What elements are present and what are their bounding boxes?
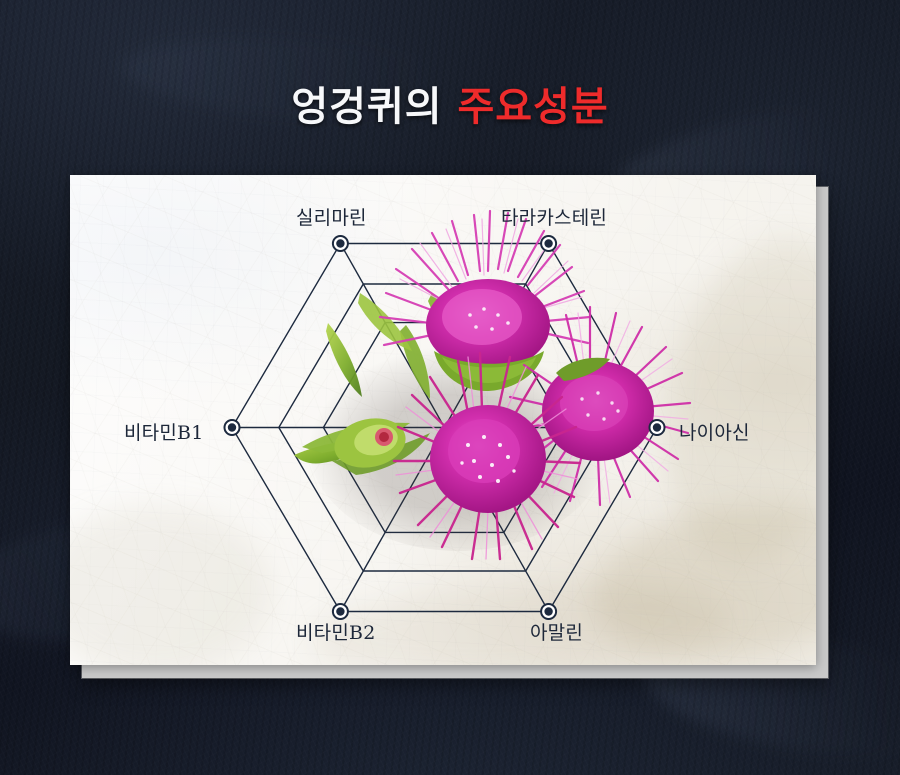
radar-vertex-taraxasterol[interactable]: [541, 236, 556, 251]
radar-vertex-vitamin_b2[interactable]: [333, 604, 348, 619]
axis-label-silymarin: 실리마린: [296, 203, 367, 230]
chart-card: 실리마린 타라카스테린 나이아신 아말린 비타민B2 비타민B1: [70, 175, 816, 665]
radar-vertex-amarin[interactable]: [541, 604, 556, 619]
radar-vertex-vitamin_b1[interactable]: [225, 420, 240, 435]
radar-vertex-niacin[interactable]: [650, 420, 665, 435]
axis-label-vitamin-b1: 비타민B1: [124, 418, 204, 445]
page-title-primary: 엉겅퀴의: [291, 83, 442, 130]
axis-label-amarin: 아말린: [530, 618, 583, 645]
thistle-flower-image: [294, 211, 690, 559]
axis-label-taraxasterol: 타라카스테린: [501, 203, 607, 230]
axis-label-niacin: 나이아신: [679, 418, 750, 445]
radar-vertex-silymarin[interactable]: [333, 236, 348, 251]
page-title-accent: 주요성분: [457, 83, 608, 130]
axis-label-vitamin-b2: 비타민B2: [296, 618, 376, 645]
page-title: 엉겅퀴의 주요성분: [0, 74, 900, 132]
